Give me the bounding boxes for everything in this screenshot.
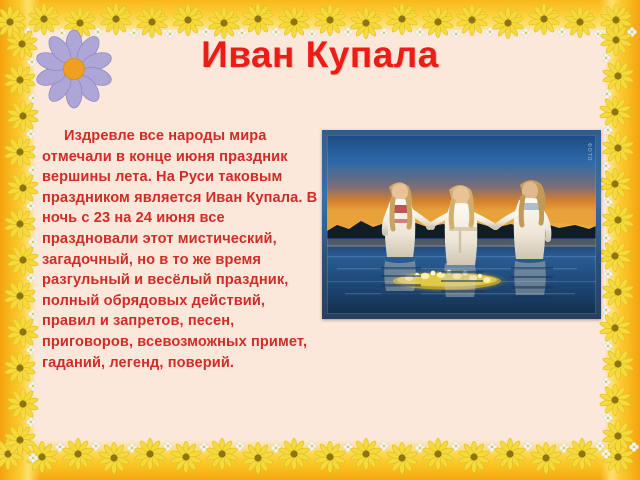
photo-image: ФОТО	[327, 135, 596, 314]
slide-canvas: Иван Купала Издревле все народы мира отм…	[0, 0, 640, 480]
photo-frame: ФОТО	[322, 130, 601, 319]
photo-watermark: ФОТО	[585, 143, 592, 187]
body-paragraph: Издревле все народы мира отмечали в конц…	[42, 126, 320, 373]
page-title: Иван Купала	[0, 36, 640, 75]
